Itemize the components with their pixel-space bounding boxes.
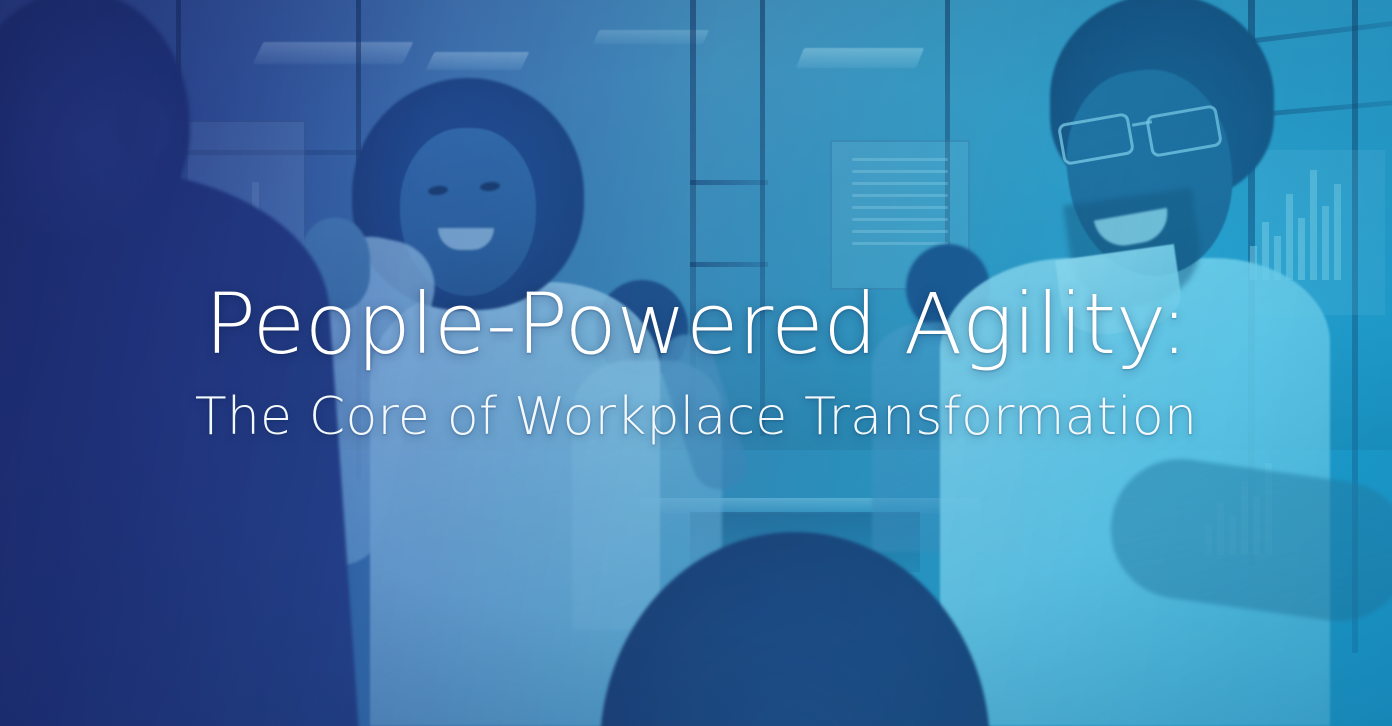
hero-banner: People-Powered Agility: The Core of Work…: [0, 0, 1392, 726]
page-subtitle: The Core of Workplace Transformation: [195, 390, 1197, 445]
hero-text-overlay: People-Powered Agility: The Core of Work…: [0, 0, 1392, 726]
page-title: People-Powered Agility:: [204, 282, 1188, 366]
